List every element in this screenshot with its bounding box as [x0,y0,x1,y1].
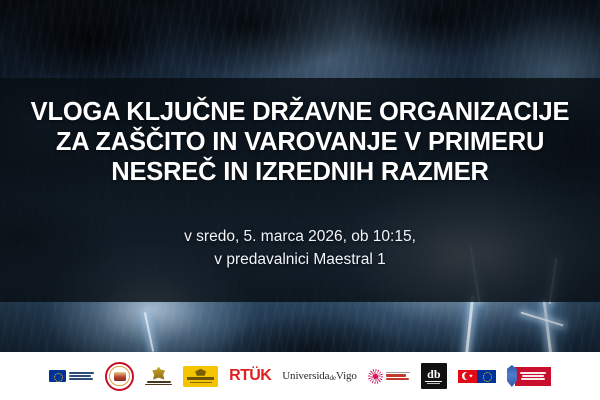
db-badge-icon: db [421,363,447,389]
selcuk-emblem-icon [151,367,167,380]
rtuk-wordmark: RTÜK [229,367,271,385]
vigo-part-3: Vigo [336,370,357,382]
universidade-vigo-logo: UniversidadeVigo [282,361,357,391]
municipality-badge-icon [183,366,218,387]
red-institution-text [515,367,551,386]
page-title: VLOGA KLJUČNE DRŽAVNE ORGANIZACIJE ZA ZA… [0,97,600,187]
partner-logo-strip: RTÜK UniversidadeVigo db [0,352,600,400]
turkey-flag-icon [458,370,477,383]
eu-flag-icon [49,370,66,382]
title-line-3: NESREČ IN IZREDNIH RAZMER [0,157,600,187]
db-monogram: db [427,368,440,380]
event-datetime: v sredo, 5. marca 2026, ob 10:15, [184,225,416,248]
eu-cofunded-text [69,372,94,380]
rtuk-logo: RTÜK [229,361,271,391]
vigo-wordmark: UniversidadeVigo [282,370,357,382]
text-overlay-band: VLOGA KLJUČNE DRŽAVNE ORGANIZACIJE ZA ZA… [0,78,600,302]
iletisim-baskanligi-logo [368,361,410,391]
tulip-emblem-icon [368,369,383,384]
red-institution-logo [507,361,551,391]
event-location: v predavalnici Maestral 1 [184,248,416,271]
event-details: v sredo, 5. marca 2026, ob 10:15, v pred… [184,225,416,271]
crest-seal-icon [105,362,134,391]
iletisim-baskanligi-text [386,372,410,381]
selcuk-university-logo [145,361,172,391]
disaster-db-logo: db [421,361,447,391]
eu-cofunded-logo [49,361,94,391]
vigo-part-1: Universida [282,370,329,382]
title-line-2: ZA ZAŠČITO IN VAROVANJE V PRIMERU [0,127,600,157]
konya-municipality-logo [183,361,218,391]
selcuk-university-text [145,381,172,385]
eu-flag-icon [477,370,496,383]
poster: VLOGA KLJUČNE DRŽAVNE ORGANIZACIJE ZA ZA… [0,0,600,400]
title-line-1: VLOGA KLJUČNE DRŽAVNE ORGANIZACIJE [0,97,600,127]
seal-crest-logo [105,361,134,391]
turkey-eu-flags-logo [458,361,496,391]
